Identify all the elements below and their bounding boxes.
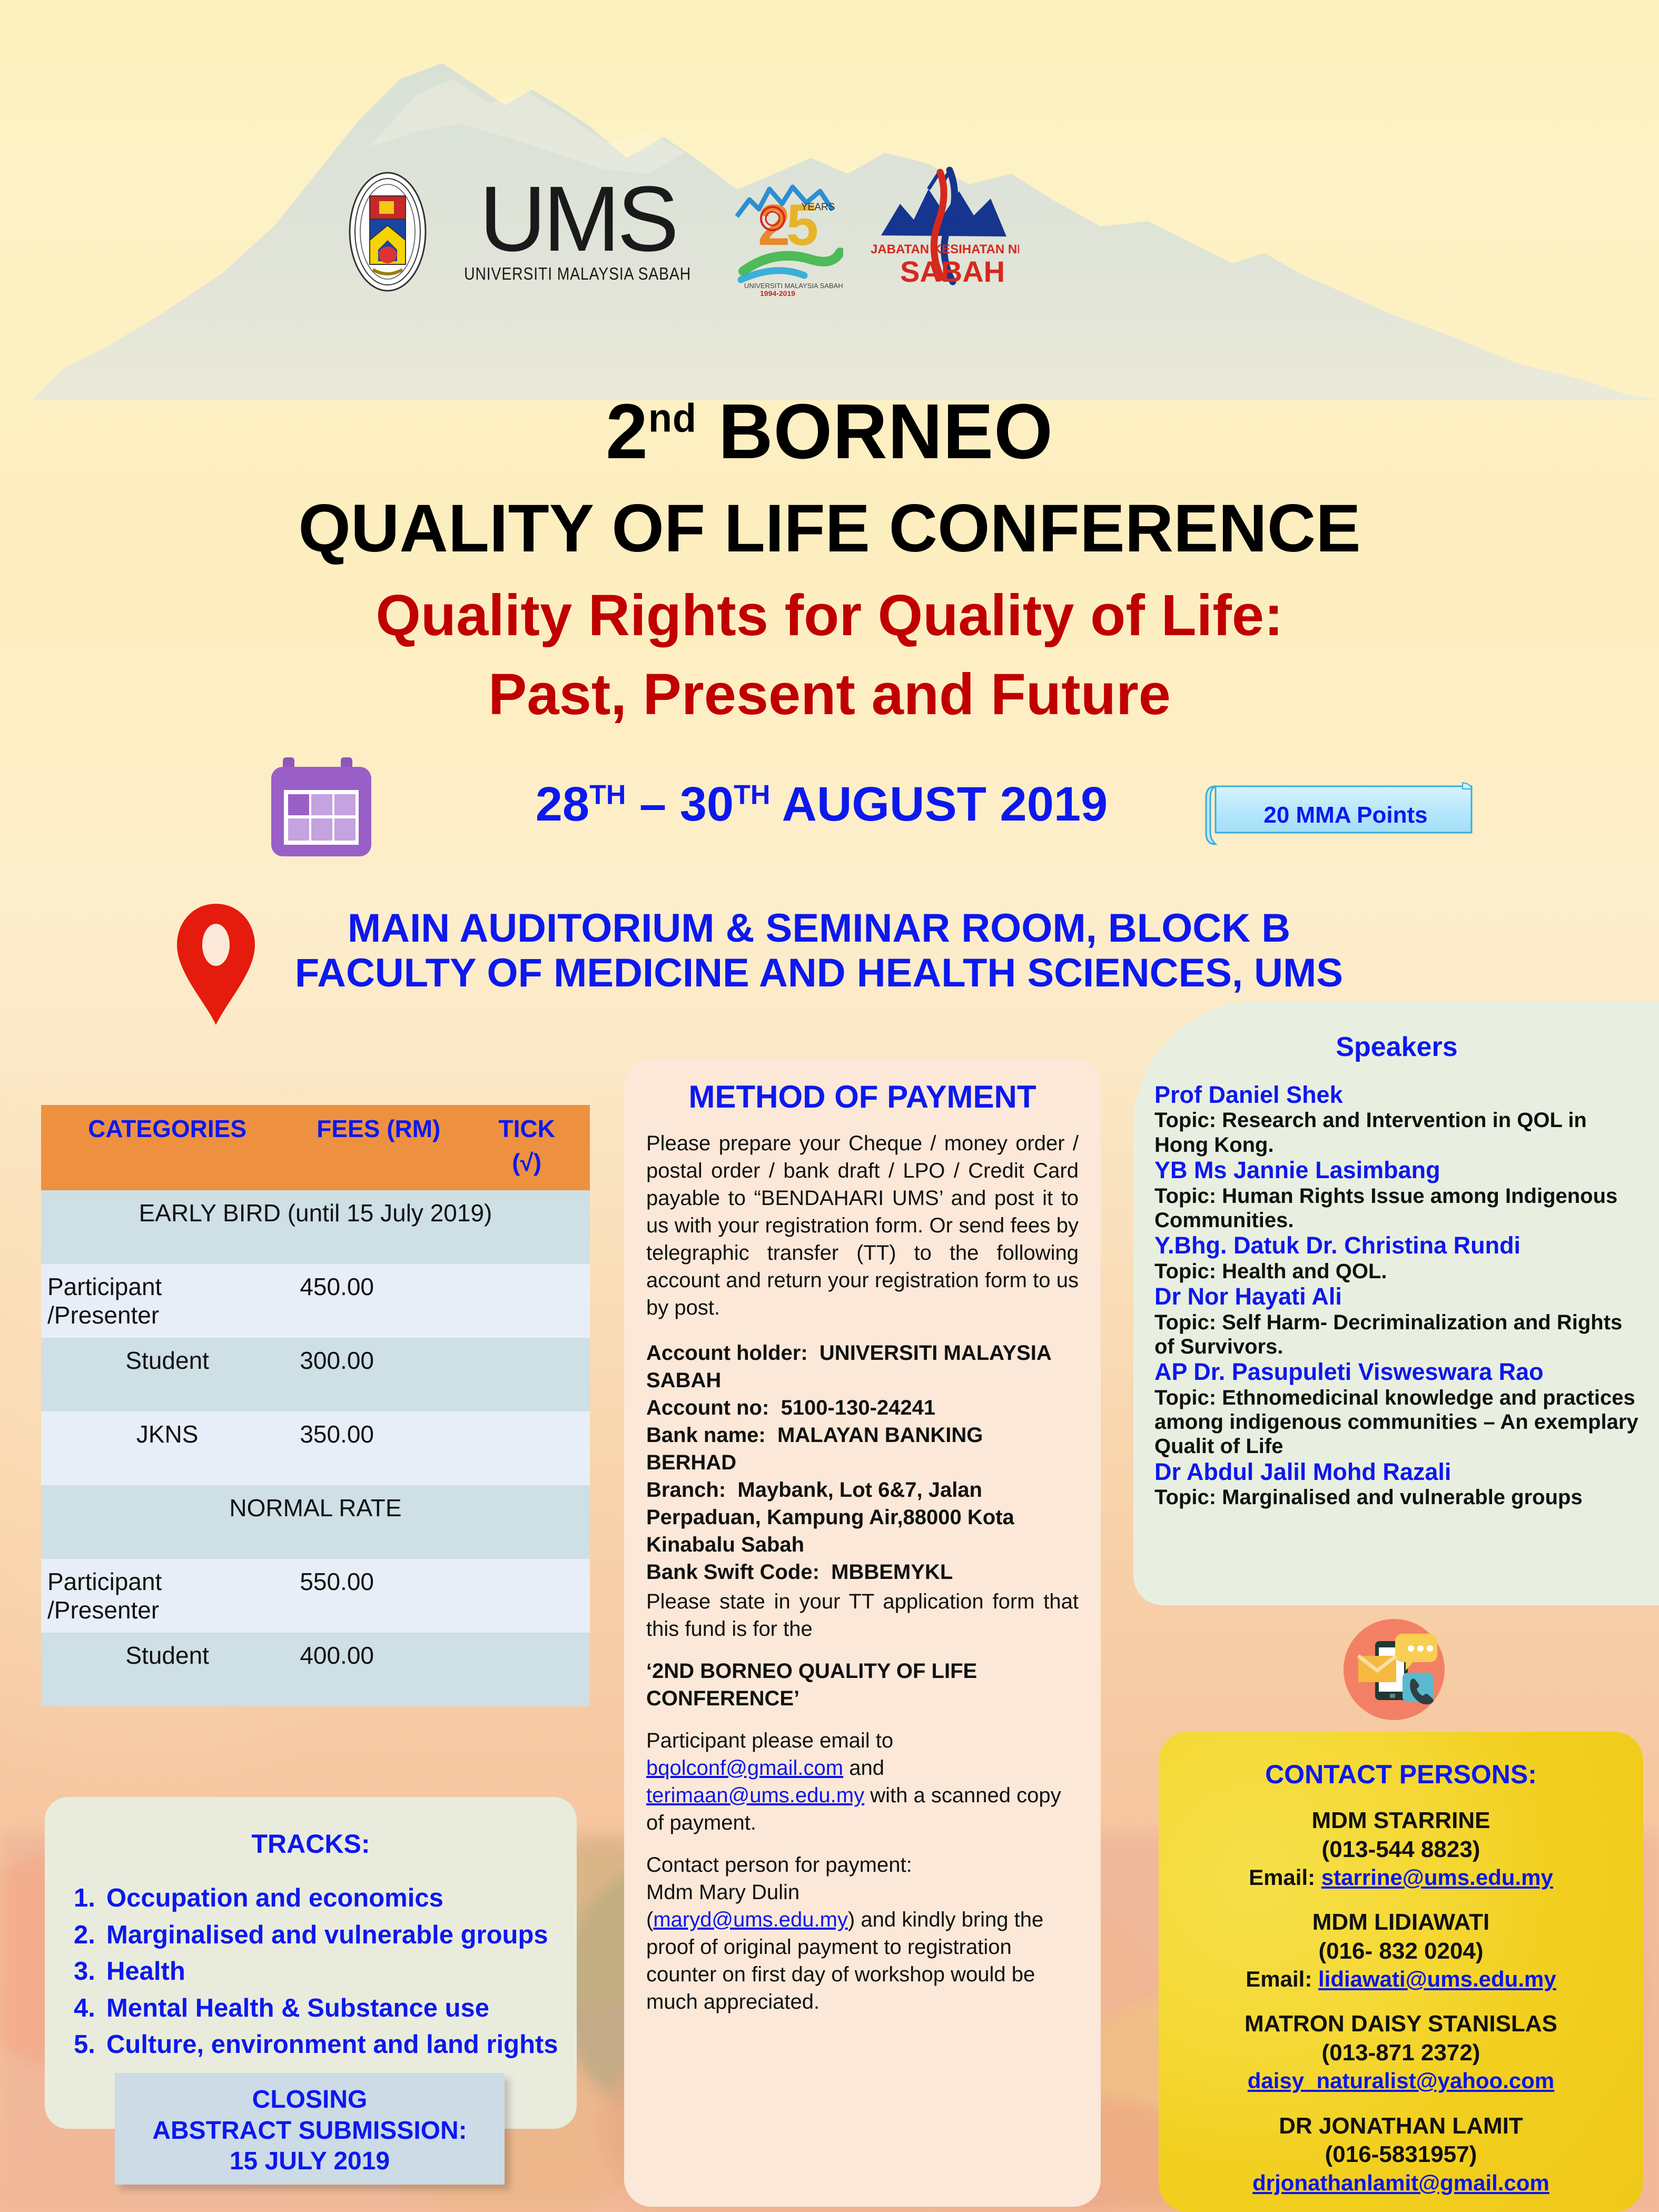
fees-header-tick: TICK (√) (463, 1105, 590, 1190)
list-item: Occupation and economics (74, 1880, 577, 1917)
venue-line-1: MAIN AUDITORIUM & SEMINAR ROOM, BLOCK B (174, 906, 1464, 951)
fees-amount: 350.00 (293, 1411, 463, 1485)
contact-email-label: Email: (1249, 1865, 1321, 1890)
payment-email-and: and (843, 1756, 884, 1780)
fees-tick-cell[interactable] (463, 1264, 590, 1338)
ums-25-years-icon: 2 5 YEARS UNIVERSITI MALAYSIA SABAH 1994… (727, 166, 843, 298)
fees-tick-cell[interactable] (463, 1559, 590, 1633)
fees-amount: 550.00 (293, 1559, 463, 1633)
closing-date-box: CLOSING ABSTRACT SUBMISSION: 15 JULY 201… (115, 2073, 505, 2185)
list-item: YB Ms Jannie Lasimbang Topic: Human Righ… (1154, 1157, 1646, 1232)
contact-email-line: Email: lidiawati@ums.edu.my (1159, 1966, 1643, 1993)
speakers-title: Speakers (1133, 1001, 1659, 1063)
speakers-card: Speakers Prof Daniel Shek Topic: Researc… (1133, 1001, 1659, 1605)
event-date: 28TH – 30TH AUGUST 2019 (453, 777, 1190, 832)
payment-contact-name: Mdm Mary Dulin (646, 1881, 799, 1904)
payment-email-1[interactable]: bqolconf@gmail.com (646, 1756, 843, 1780)
list-item: AP Dr. Pasupuleti Visweswara Rao Topic: … (1154, 1359, 1646, 1459)
contact-email[interactable]: starrine@ums.edu.my (1321, 1865, 1553, 1890)
payment-fund-name: ‘2ND BORNEO QUALITY OF LIFE CONFERENCE’ (646, 1660, 977, 1710)
contact-email[interactable]: daisy_naturalist@yahoo.com (1248, 2068, 1554, 2093)
list-item: Mental Health & Substance use (74, 1990, 577, 2027)
list-item: Prof Daniel Shek Topic: Research and Int… (1154, 1082, 1646, 1157)
date-day-start: 28 (536, 777, 589, 831)
list-item: MATRON DAISY STANISLAS (013-871 2372) da… (1159, 2010, 1643, 2095)
payment-title: METHOD OF PAYMENT (624, 1059, 1101, 1115)
speaker-name: Y.Bhg. Datuk Dr. Christina Rundi (1154, 1232, 1646, 1259)
payment-body: Please prepare your Cheque / money order… (624, 1130, 1101, 2016)
contact-name: DR JONATHAN LAMIT (1159, 2112, 1643, 2141)
calendar-icon (262, 755, 380, 861)
payment-method-card: METHOD OF PAYMENT Please prepare your Ch… (624, 1059, 1101, 2207)
title-line-1: 2nd BORNEO (25, 387, 1634, 477)
speaker-topic: Topic: Health and QOL. (1154, 1259, 1646, 1283)
mma-points-label: 20 MMA Points (1227, 802, 1464, 828)
svg-text:1994-2019: 1994-2019 (760, 289, 795, 298)
contact-email-label: Email: (1246, 1967, 1318, 1991)
closing-line-2: ABSTRACT SUBMISSION: (115, 2116, 505, 2147)
speaker-topic: Topic: Marginalised and vulnerable group… (1154, 1485, 1646, 1509)
contact-phone: (013-544 8823) (1159, 1835, 1643, 1864)
payment-email-instructions: Participant please email to bqolconf@gma… (646, 1727, 1079, 1836)
theme-line-2: Past, Present and Future (0, 661, 1659, 728)
account-no-value: 5100-130-24241 (781, 1396, 936, 1419)
fees-category: Student (41, 1338, 293, 1411)
payment-email-intro: Participant please email to (646, 1729, 893, 1752)
ums-wordmark-subtitle: UNIVERSITI MALAYSIA SABAH (464, 264, 691, 284)
date-sup-2: TH (734, 779, 770, 810)
contact-name: MATRON DAISY STANISLAS (1159, 2010, 1643, 2039)
fees-tick-cell[interactable] (463, 1338, 590, 1411)
fees-band-normal-rate: NORMAL RATE (41, 1485, 590, 1559)
fees-tick-cell[interactable] (463, 1411, 590, 1485)
venue-line-2: FACULTY OF MEDICINE AND HEALTH SCIENCES,… (174, 951, 1464, 995)
speaker-topic: Topic: Research and Intervention in QOL … (1154, 1108, 1646, 1157)
list-item: MDM LIDIAWATI (016- 832 0204) Email: lid… (1159, 1908, 1643, 1993)
contact-email[interactable]: lidiawati@ums.edu.my (1318, 1967, 1556, 1991)
closing-line-3: 15 JULY 2019 (115, 2146, 505, 2177)
tracks-title: TRACKS: (45, 1797, 577, 1859)
fees-amount: 400.00 (293, 1633, 463, 1706)
svg-text:JABATAN KESIHATAN NEGERI: JABATAN KESIHATAN NEGERI (871, 242, 1019, 256)
title-line-1-rest: BORNEO (697, 388, 1053, 475)
list-item: MDM STARRINE (013-544 8823) Email: starr… (1159, 1806, 1643, 1891)
fees-tick-cell[interactable] (463, 1633, 590, 1706)
fees-category: JKNS (41, 1411, 293, 1485)
svg-text:YEARS: YEARS (801, 202, 835, 213)
bank-name-label: Bank name: (646, 1424, 766, 1447)
speaker-name: YB Ms Jannie Lasimbang (1154, 1157, 1646, 1183)
title-line-2: QUALITY OF LIFE CONFERENCE (0, 490, 1659, 567)
swift-label: Bank Swift Code: (646, 1561, 819, 1584)
speaker-name: Dr Nor Hayati Ali (1154, 1283, 1646, 1310)
contact-persons-title: CONTACT PERSONS: (1159, 1732, 1643, 1790)
table-row: Participant/Presenter 550.00 (41, 1559, 590, 1633)
contact-phone: (016- 832 0204) (1159, 1937, 1643, 1966)
venue-text: MAIN AUDITORIUM & SEMINAR ROOM, BLOCK B … (174, 906, 1464, 995)
registration-fees-table: CATEGORIES FEES (RM) TICK (√) EARLY BIRD… (41, 1105, 590, 1706)
payment-bank-details: Account holder: UNIVERSITI MALAYSIA SABA… (646, 1339, 1079, 1586)
fees-header-tick-label: TICK (499, 1115, 555, 1142)
list-item: Health (74, 1953, 577, 1990)
list-item: Marginalised and vulnerable groups (74, 1917, 577, 1954)
title-ordinal: 2 (606, 388, 648, 475)
list-item: Y.Bhg. Datuk Dr. Christina Rundi Topic: … (1154, 1232, 1646, 1283)
jkn-sabah-logo-icon: JABATAN KESIHATAN NEGERI SABAH (861, 163, 1019, 301)
logo-row: UMS UNIVERSITI MALAYSIA SABAH 2 5 YEARS … (348, 153, 1138, 311)
ums-wordmark: UMS UNIVERSITI MALAYSIA SABAH (446, 180, 709, 283)
account-no-label: Account no: (646, 1396, 769, 1419)
fees-category: Participant/Presenter (41, 1559, 293, 1633)
speaker-name: Dr Abdul Jalil Mohd Razali (1154, 1459, 1646, 1485)
fees-band-label: NORMAL RATE (41, 1485, 590, 1559)
fees-header-row: CATEGORIES FEES (RM) TICK (√) (41, 1105, 590, 1190)
list-item: Culture, environment and land rights (74, 2027, 577, 2063)
contact-email[interactable]: drjonathanlamit@gmail.com (1252, 2170, 1549, 2195)
fees-category: Participant/Presenter (41, 1264, 293, 1338)
payment-contact-person: Contact person for payment: Mdm Mary Dul… (646, 1851, 1079, 2016)
speaker-name: Prof Daniel Shek (1154, 1082, 1646, 1108)
list-item: Dr Nor Hayati Ali Topic: Self Harm- Decr… (1154, 1283, 1646, 1359)
payment-intro: Please prepare your Cheque / money order… (646, 1130, 1079, 1321)
contact-phone: (013-871 2372) (1159, 2039, 1643, 2068)
svg-text:SABAH: SABAH (900, 255, 1005, 288)
speaker-topic: Topic: Self Harm- Decriminalization and … (1154, 1310, 1646, 1359)
fees-category: Student (41, 1633, 293, 1706)
list-item: DR JONATHAN LAMIT (016-5831957) drjonath… (1159, 2112, 1643, 2197)
title-ordinal-suffix: nd (648, 396, 697, 441)
fees-amount: 300.00 (293, 1338, 463, 1411)
fees-header-categories: CATEGORIES (41, 1105, 293, 1190)
contact-name: MDM STARRINE (1159, 1806, 1643, 1835)
contact-email-line: daisy_naturalist@yahoo.com (1159, 2067, 1643, 2095)
payment-contact-email[interactable]: maryd@ums.edu.my (653, 1908, 848, 1931)
date-range-mid: – 30 (626, 777, 734, 831)
payment-tt-note: Please state in your TT application form… (646, 1588, 1079, 1643)
speakers-list: Prof Daniel Shek Topic: Research and Int… (1133, 1063, 1659, 1510)
date-month-year: AUGUST 2019 (770, 777, 1108, 831)
fees-band-label: EARLY BIRD (until 15 July 2019) (41, 1190, 590, 1264)
table-row: Student 400.00 (41, 1633, 590, 1706)
contact-email-line: drjonathanlamit@gmail.com (1159, 2169, 1643, 2197)
tracks-list: Occupation and economics Marginalised an… (45, 1880, 577, 2063)
fees-header-fees: FEES (RM) (293, 1105, 463, 1190)
contact-email-line: Email: starrine@ums.edu.my (1159, 1864, 1643, 1891)
contact-persons-card: CONTACT PERSONS: MDM STARRINE (013-544 8… (1159, 1732, 1643, 2212)
account-holder-label: Account holder: (646, 1341, 808, 1365)
closing-line-1: CLOSING (115, 2073, 505, 2116)
contact-name: MDM LIDIAWATI (1159, 1908, 1643, 1937)
contact-communication-icon (1340, 1616, 1448, 1724)
list-item: Dr Abdul Jalil Mohd Razali Topic: Margin… (1154, 1459, 1646, 1510)
speaker-topic: Topic: Human Rights Issue among Indigeno… (1154, 1184, 1646, 1233)
fees-band-early-bird: EARLY BIRD (until 15 July 2019) (41, 1190, 590, 1264)
svg-text:UNIVERSITI MALAYSIA SABAH: UNIVERSITI MALAYSIA SABAH (744, 282, 843, 290)
swift-value: MBBEMYKL (831, 1561, 953, 1584)
fees-header-tick-symbol: (√) (467, 1148, 587, 1177)
speaker-name: AP Dr. Pasupuleti Visweswara Rao (1154, 1359, 1646, 1385)
branch-label: Branch: (646, 1478, 726, 1502)
table-row: JKNS 350.00 (41, 1411, 590, 1485)
ums-crest-icon (348, 171, 428, 293)
table-row: Student 300.00 (41, 1338, 590, 1411)
payment-contact-label: Contact person for payment: (646, 1853, 912, 1877)
contact-phone: (016-5831957) (1159, 2140, 1643, 2169)
fees-amount: 450.00 (293, 1264, 463, 1338)
theme-line-1: Quality Rights for Quality of Life: (0, 582, 1659, 649)
speaker-topic: Topic: Ethnomedicinal knowledge and prac… (1154, 1386, 1646, 1459)
date-sup-1: TH (589, 779, 626, 810)
table-row: Participant/Presenter 450.00 (41, 1264, 590, 1338)
payment-email-2[interactable]: terimaan@ums.edu.my (646, 1784, 864, 1807)
ums-wordmark-text: UMS (479, 180, 676, 259)
